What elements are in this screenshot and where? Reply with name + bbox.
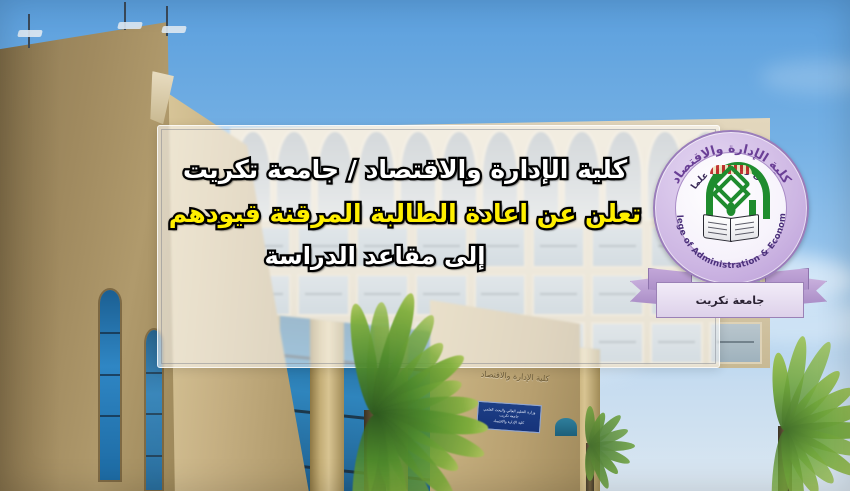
palm-tree-far (545, 415, 635, 491)
open-book-icon (703, 216, 759, 238)
tower-shading (0, 22, 60, 491)
book-page-left (703, 214, 732, 242)
ribbon-banner: جامعة تكريت (656, 282, 804, 318)
palm-tree-center (250, 352, 500, 491)
tower-arched-window (100, 290, 120, 480)
roof-flag (117, 22, 143, 29)
headline-announcement: تعلن عن اعادة الطالبة المرقنة قيودهم (150, 196, 660, 232)
headline-institution: كلية الإدارة والاقتصاد / جامعة تكريت (150, 152, 660, 188)
university-logo: كلية الإدارة والاقتصاد College of Admini… (626, 128, 831, 338)
book-page-right (730, 214, 759, 242)
roof-flag (161, 26, 187, 33)
announcement-banner: كلية الإدارة والاقتصاد وزارة التعليم الع… (0, 0, 850, 491)
seal-disc: كلية الإدارة والاقتصاد College of Admini… (653, 130, 809, 286)
palm-tree-right (690, 380, 850, 491)
headline-block: كلية الإدارة والاقتصاد / جامعة تكريت تعل… (150, 152, 660, 281)
ribbon-label: جامعة تكريت (696, 294, 765, 307)
drop-ornament (727, 202, 736, 216)
headline-closing: إلى مقاعد الدراسة (150, 239, 600, 273)
palm-frond (585, 446, 595, 481)
mosque-arch-emblem (698, 162, 764, 238)
roof-flag (17, 30, 43, 37)
